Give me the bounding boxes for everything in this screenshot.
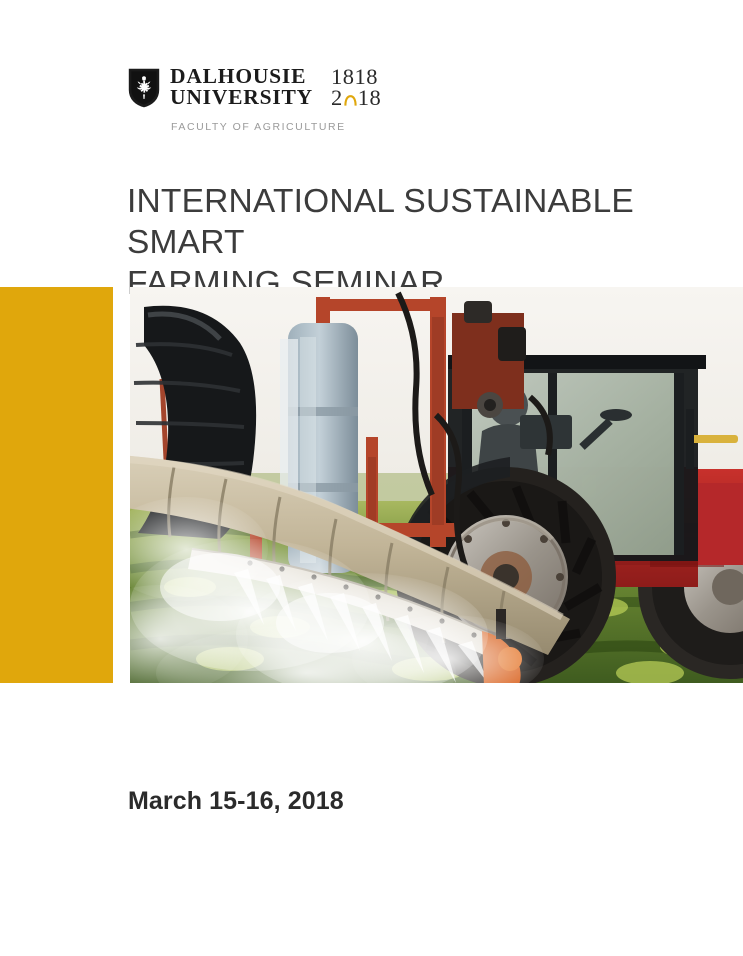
dalhousie-logo: DALHOUSIE UNIVERSITY 1818 2 18 (128, 66, 548, 142)
logo-faculty-label: FACULTY OF AGRICULTURE (171, 121, 548, 133)
anniversary-year-current: 2 18 (331, 87, 381, 108)
logo-wordmark: DALHOUSIE UNIVERSITY 1818 2 18 (170, 66, 381, 108)
logo-name-line-1: DALHOUSIE (170, 66, 313, 87)
gold-arc-zero-icon (344, 88, 357, 99)
anniversary-year-founded: 1818 (331, 66, 381, 87)
logo-row: DALHOUSIE UNIVERSITY 1818 2 18 (128, 66, 548, 108)
poster-page: DALHOUSIE UNIVERSITY 1818 2 18 (0, 0, 743, 956)
tractor-crop-sprayer-photo (130, 287, 743, 683)
logo-anniversary: 1818 2 18 (331, 66, 381, 108)
anniversary-prefix: 2 (331, 87, 343, 108)
hero-band (0, 287, 743, 683)
event-date: March 15-16, 2018 (128, 787, 344, 816)
gold-accent-bar (0, 287, 113, 683)
dalhousie-shield-eagle-crest-icon (128, 68, 160, 108)
logo-name-line-2: UNIVERSITY (170, 87, 313, 108)
logo-university-name: DALHOUSIE UNIVERSITY (170, 66, 313, 108)
page-title: INTERNATIONAL SUSTAINABLE SMART FARMING … (127, 181, 727, 304)
anniversary-suffix: 18 (358, 87, 382, 108)
